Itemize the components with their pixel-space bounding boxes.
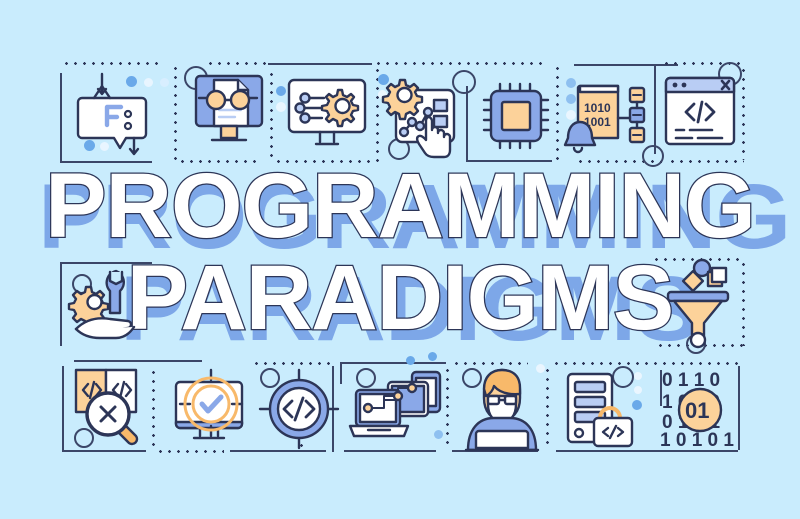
decor-dot-13 [406, 356, 415, 365]
dotted-rule-mid-v1 [742, 260, 745, 346]
frame-line-mid-1 [60, 262, 152, 264]
dotted-rule-bot-2 [252, 362, 330, 365]
dotted-rule-top-v5 [742, 66, 745, 160]
developer-laptop-icon [462, 366, 542, 450]
binary-highlight-label: 01 [685, 398, 709, 423]
frame-line-top-v3 [654, 66, 656, 154]
frame-line-bot-4 [340, 362, 446, 364]
monitor-code-review-icon [192, 70, 270, 156]
dotted-rule-top-v4 [556, 64, 559, 162]
banner-canvas: 1010 1001 PROGRAMMING PROGRAMM [0, 0, 800, 519]
dotted-rule-top-4 [274, 160, 370, 163]
binary-grid-row4: 1 0 1 0 1 [660, 430, 734, 451]
decor-dot-14 [428, 352, 437, 361]
frame-line-bot-5 [344, 450, 436, 452]
frame-line-bot-v3 [340, 362, 342, 384]
algorithm-click-icon [388, 76, 468, 158]
code-debug-search-icon [72, 366, 154, 446]
dotted-rule-bot-4 [552, 362, 738, 365]
binary-grid-row1: 0 1 1 0 [662, 370, 720, 391]
dotted-rule-bot-v4 [546, 366, 549, 450]
frame-line-top-3 [466, 160, 552, 162]
cpu-chip-icon [478, 78, 554, 154]
dotted-rule-top-2 [178, 160, 262, 163]
headline-line-1-shadow: PROGRAMMING [38, 171, 790, 263]
frame-line-left-top [60, 73, 62, 163]
dotted-rule-bot-v3 [446, 366, 449, 450]
decor-dot-7 [276, 102, 286, 112]
dotted-rule-top-8 [668, 160, 744, 163]
decor-dot-6 [276, 86, 286, 96]
binary-data-icon: 0 1 1 0 1 0 1 0 0 1 0 1 1 0 1 0 1 01 [660, 368, 744, 448]
monitor-settings-icon [286, 76, 368, 156]
monitor-check-target-icon [170, 368, 254, 450]
dotted-rule-top-3 [206, 62, 268, 65]
function-flow-icon [74, 68, 166, 160]
frame-line-bot-v1 [62, 366, 64, 452]
dotted-rule-top-5 [374, 62, 544, 65]
server-unlock-code-icon [564, 370, 646, 450]
funnel-filter-icon [660, 258, 736, 346]
frame-line-mid-v1 [60, 262, 62, 346]
dotted-rule-bot-3 [452, 362, 528, 365]
headline-line-1: PROGRAMMING PROGRAMMING [0, 160, 800, 252]
frame-line-bot-1 [74, 360, 202, 362]
headline-line-2-shadow: PARADIGMS [120, 263, 699, 355]
frame-line-top-mid [268, 63, 372, 65]
binary-panel-row1: 1010 [584, 101, 611, 115]
dotted-rule-bot-1 [156, 450, 224, 453]
code-target-icon [258, 368, 340, 450]
frame-line-bottom-left-top [60, 161, 152, 163]
dotted-rule-top-1 [62, 62, 158, 65]
binary-notification-icon: 1010 1001 [568, 78, 652, 158]
multi-device-icon [348, 368, 444, 450]
dotted-rule-top-v1 [174, 64, 177, 162]
dotted-rule-top-v2 [270, 70, 273, 162]
headline-line-1-face: PROGRAMMING [45, 155, 755, 257]
headline-line-2-face: PARADIGMS [127, 247, 673, 349]
code-window-icon [662, 72, 738, 152]
frame-line-bot-3 [230, 450, 326, 452]
frame-line-bot-2 [62, 450, 146, 452]
gear-wrench-hand-icon [72, 265, 150, 345]
